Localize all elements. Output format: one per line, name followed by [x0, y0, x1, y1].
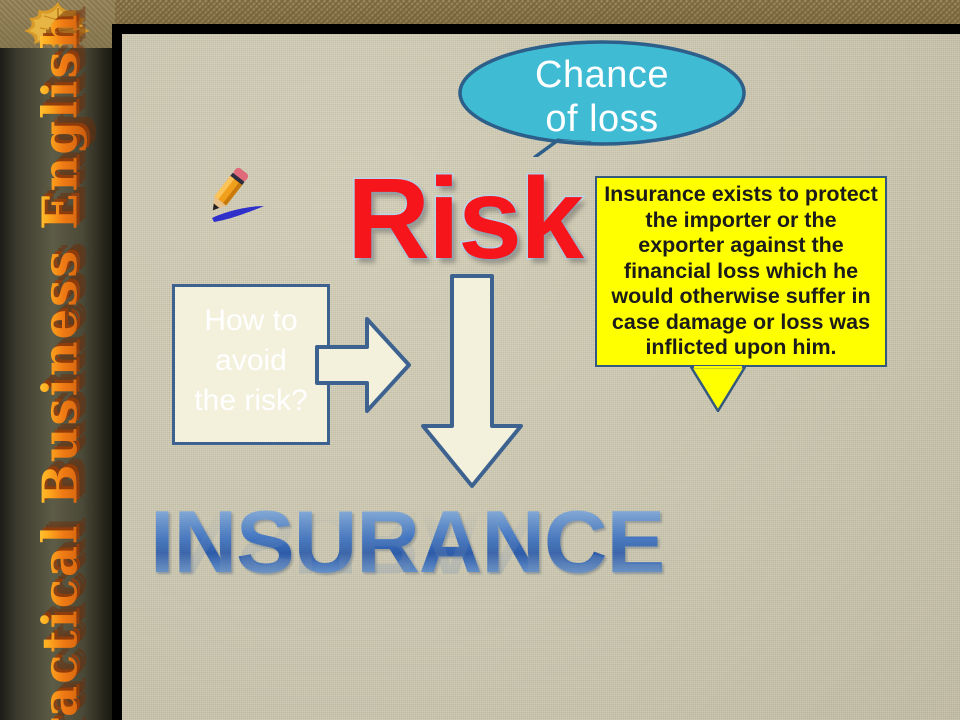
arrow-right-icon [315, 316, 411, 419]
pencil-icon [200, 166, 274, 233]
sidebar-banner: Practical Business English [0, 0, 115, 720]
avoid-risk-line-1: How to [175, 301, 327, 341]
avoid-risk-line-2: avoid [175, 341, 327, 381]
sidebar-title-rotator: Practical Business English [3, 38, 116, 720]
speech-bubble-chance-of-loss[interactable]: Chance of loss [457, 39, 747, 154]
callout-text: Insurance exists to protect the importer… [595, 176, 887, 367]
arrow-down-icon [420, 274, 524, 494]
slide-canvas: Chance of loss [122, 34, 960, 720]
presentation-slide: Practical Business English Chance of los… [0, 0, 960, 720]
sidebar-title: Practical Business English [32, 13, 88, 720]
page-title-risk: Risk [347, 162, 582, 277]
slide-frame: Chance of loss [112, 24, 960, 720]
avoid-risk-line-3: the risk? [175, 381, 327, 421]
top-texture-strip [0, 0, 960, 26]
callout-insurance-definition[interactable]: Insurance exists to protect the importer… [595, 176, 887, 367]
avoid-risk-box[interactable]: How to avoid the risk? [172, 284, 330, 445]
insurance-wordmark-reflection: INSURANCE [150, 497, 790, 589]
insurance-wordmark: INSURANCE INSURANCE [150, 496, 790, 696]
callout-tail-icon [690, 366, 746, 412]
